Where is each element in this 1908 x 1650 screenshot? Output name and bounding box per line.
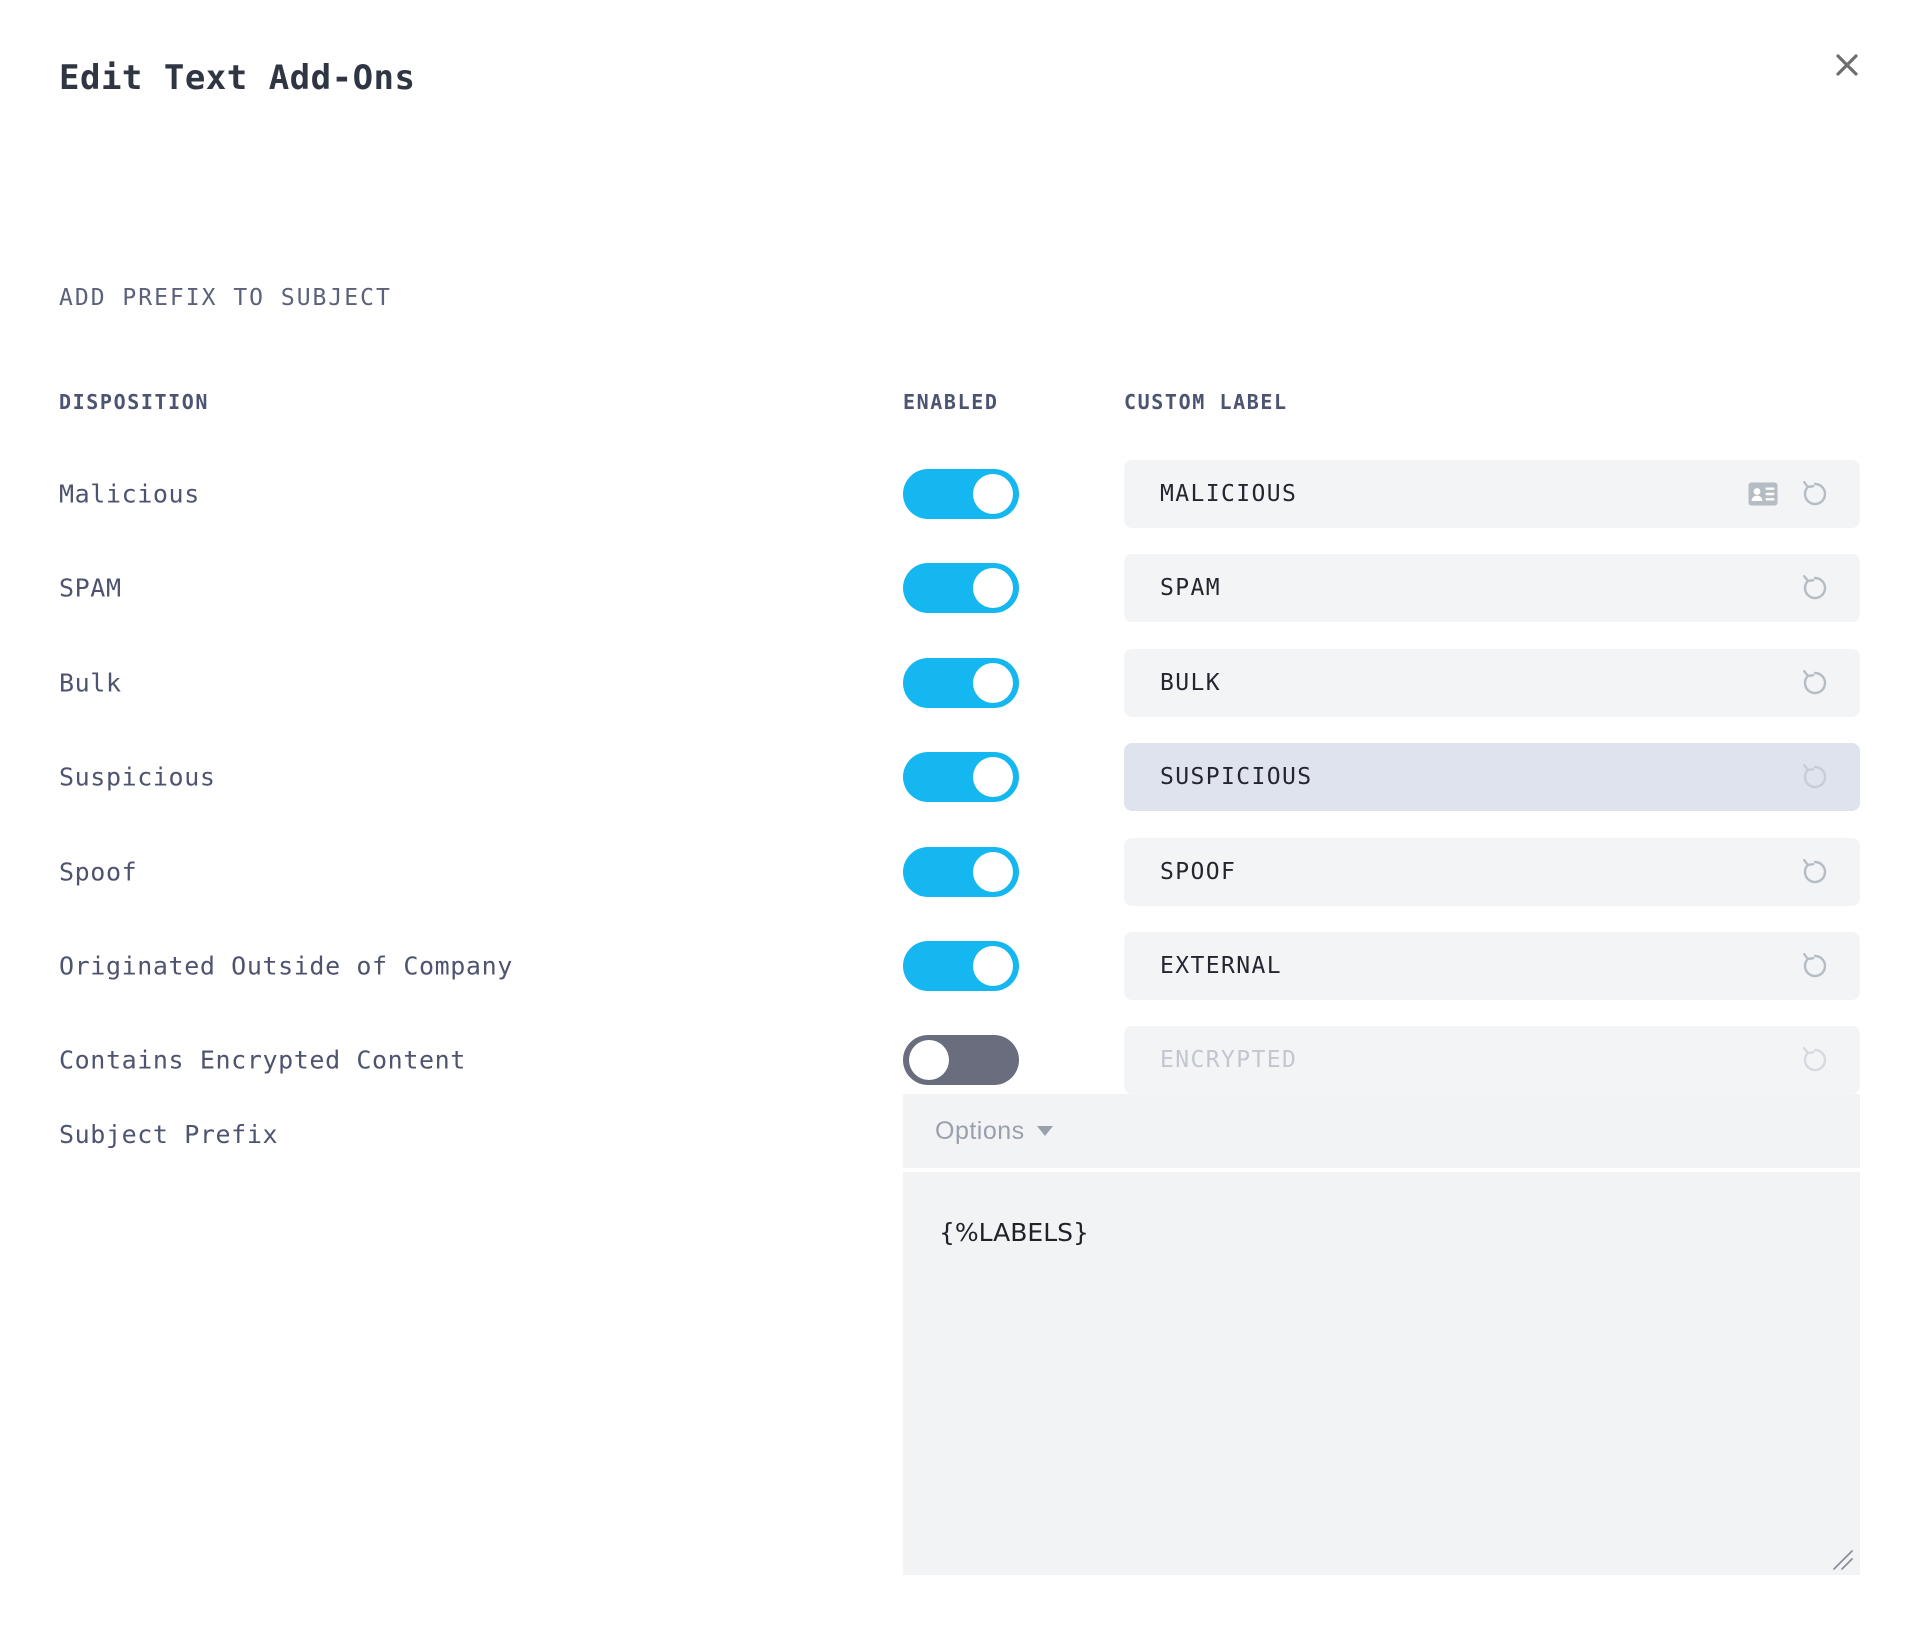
toggle-knob: [973, 663, 1013, 703]
reset-button[interactable]: [1798, 477, 1832, 511]
disposition-label: Malicious: [59, 480, 200, 509]
custom-label-input[interactable]: EXTERNAL: [1124, 932, 1860, 1000]
reset-icon: [1799, 667, 1831, 699]
options-dropdown-label: Options: [935, 1117, 1025, 1146]
table-row: BulkBULK: [0, 637, 1908, 729]
field-icon-group: [1798, 855, 1832, 889]
field-icon-group: [1798, 1043, 1832, 1077]
custom-label-value: SPAM: [1160, 575, 1798, 601]
custom-label-value: ENCRYPTED: [1160, 1047, 1798, 1073]
dialog-header: Edit Text Add-Ons: [0, 0, 1908, 130]
resize-grip-icon[interactable]: [1828, 1545, 1854, 1571]
disposition-label: Suspicious: [59, 763, 216, 792]
options-toolbar: Options: [903, 1094, 1860, 1168]
section-label: ADD PREFIX TO SUBJECT: [59, 285, 392, 311]
column-header-enabled: ENABLED: [903, 390, 999, 414]
enabled-toggle[interactable]: [903, 941, 1019, 991]
close-icon: [1832, 50, 1862, 80]
subject-prefix-textarea[interactable]: {%LABELS}: [903, 1170, 1860, 1575]
custom-label-input[interactable]: BULK: [1124, 649, 1860, 717]
contact-card-button[interactable]: [1746, 477, 1780, 511]
reset-button[interactable]: [1798, 949, 1832, 983]
close-button[interactable]: [1822, 40, 1872, 90]
toggle-knob: [973, 852, 1013, 892]
reset-icon: [1799, 856, 1831, 888]
field-icon-group: [1746, 477, 1832, 511]
custom-label-value: BULK: [1160, 670, 1798, 696]
custom-label-input[interactable]: ENCRYPTED: [1124, 1026, 1860, 1094]
disposition-label: Spoof: [59, 858, 137, 887]
options-dropdown[interactable]: Options: [935, 1117, 1053, 1146]
table-row: MaliciousMALICIOUS: [0, 448, 1908, 540]
table-row: Originated Outside of CompanyEXTERNAL: [0, 920, 1908, 1012]
enabled-toggle[interactable]: [903, 847, 1019, 897]
enabled-toggle[interactable]: [903, 1035, 1019, 1085]
disposition-label: SPAM: [59, 574, 122, 603]
table-row: SuspiciousSUSPICIOUS: [0, 731, 1908, 823]
column-header-custom-label: CUSTOM LABEL: [1124, 390, 1288, 414]
toggle-knob: [909, 1040, 949, 1080]
reset-icon: [1799, 950, 1831, 982]
subject-prefix-value: {%LABELS}: [939, 1218, 1089, 1247]
custom-label-value: MALICIOUS: [1160, 481, 1746, 507]
field-icon-group: [1798, 949, 1832, 983]
custom-label-value: SPOOF: [1160, 859, 1798, 885]
reset-icon: [1799, 1044, 1831, 1076]
reset-icon: [1799, 761, 1831, 793]
column-header-disposition: DISPOSITION: [59, 390, 209, 414]
field-icon-group: [1798, 760, 1832, 794]
custom-label-input[interactable]: SUSPICIOUS: [1124, 743, 1860, 811]
disposition-label: Bulk: [59, 669, 122, 698]
page-title: Edit Text Add-Ons: [59, 58, 416, 98]
disposition-label: Contains Encrypted Content: [59, 1046, 466, 1075]
enabled-toggle[interactable]: [903, 658, 1019, 708]
reset-button[interactable]: [1798, 1043, 1832, 1077]
contact-card-icon: [1748, 482, 1778, 506]
custom-label-input[interactable]: SPAM: [1124, 554, 1860, 622]
reset-icon: [1799, 572, 1831, 604]
reset-button[interactable]: [1798, 571, 1832, 605]
field-icon-group: [1798, 666, 1832, 700]
toggle-knob: [973, 757, 1013, 797]
table-row: SpoofSPOOF: [0, 826, 1908, 918]
chevron-down-icon: [1037, 1126, 1053, 1136]
enabled-toggle[interactable]: [903, 469, 1019, 519]
enabled-toggle[interactable]: [903, 752, 1019, 802]
custom-label-input[interactable]: MALICIOUS: [1124, 460, 1860, 528]
subject-prefix-label: Subject Prefix: [59, 1120, 278, 1149]
custom-label-value: EXTERNAL: [1160, 953, 1798, 979]
toggle-knob: [973, 568, 1013, 608]
reset-button[interactable]: [1798, 760, 1832, 794]
reset-button[interactable]: [1798, 666, 1832, 700]
enabled-toggle[interactable]: [903, 563, 1019, 613]
table-row: SPAMSPAM: [0, 542, 1908, 634]
toggle-knob: [973, 474, 1013, 514]
custom-label-value: SUSPICIOUS: [1160, 764, 1798, 790]
table-row: Contains Encrypted ContentENCRYPTED: [0, 1014, 1908, 1106]
disposition-label: Originated Outside of Company: [59, 952, 513, 981]
custom-label-input[interactable]: SPOOF: [1124, 838, 1860, 906]
reset-button[interactable]: [1798, 855, 1832, 889]
reset-icon: [1799, 478, 1831, 510]
field-icon-group: [1798, 571, 1832, 605]
toggle-knob: [973, 946, 1013, 986]
